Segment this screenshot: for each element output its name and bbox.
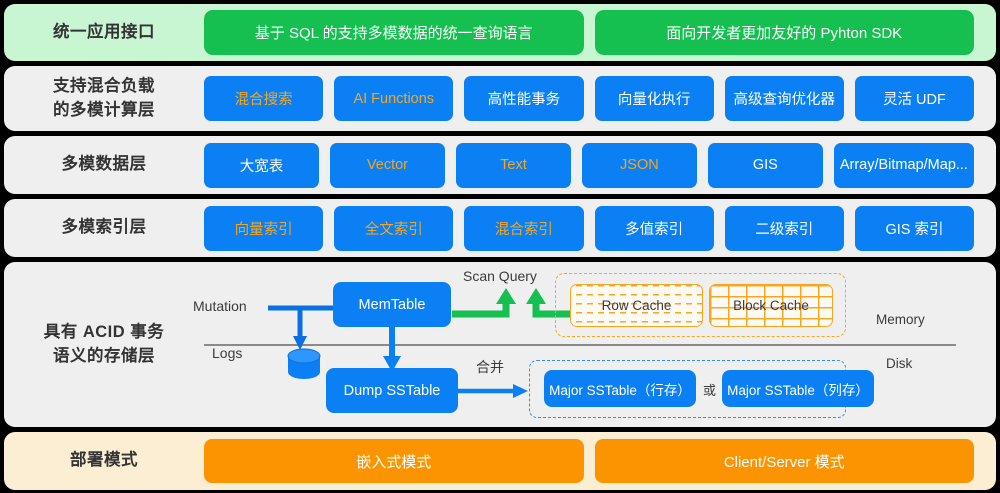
layer-row-index: 多模索引层 向量索引 全文索引 混合索引 多值索引 二级索引 GIS 索引: [4, 199, 996, 257]
chip-python-sdk[interactable]: 面向开发者更加友好的 Pyhton SDK: [595, 10, 975, 55]
layer-label-index: 多模索引层: [4, 216, 204, 239]
chip-query-optimizer[interactable]: 高级查询优化器: [725, 76, 844, 121]
chip-multivalue-index[interactable]: 多值索引: [595, 206, 714, 251]
layer-row-api: 统一应用接口 基于 SQL 的支持多模数据的统一查询语言 面向开发者更加友好的 …: [4, 4, 996, 61]
architecture-diagram: 统一应用接口 基于 SQL 的支持多模数据的统一查询语言 面向开发者更加友好的 …: [0, 0, 1000, 493]
label-scan-query: Scan Query: [463, 268, 537, 284]
chip-group-deploy: 嵌入式模式 Client/Server 模式: [204, 439, 996, 483]
chip-vector[interactable]: Vector: [330, 143, 445, 188]
layer-label-compute-line1: 支持混合负载: [4, 75, 204, 98]
chip-sql-query-language[interactable]: 基于 SQL 的支持多模数据的统一查询语言: [204, 10, 584, 55]
node-memtable[interactable]: MemTable: [333, 282, 451, 327]
chip-embedded-mode[interactable]: 嵌入式模式: [204, 439, 584, 483]
label-or: 或: [703, 380, 716, 399]
layer-label-compute-line2: 的多模计算层: [4, 99, 204, 122]
layer-body-compute: 混合搜索 AI Functions 高性能事务 向量化执行 高级查询优化器 灵活…: [204, 66, 996, 131]
chip-hybrid-search[interactable]: 混合搜索: [204, 76, 323, 121]
chip-hybrid-index[interactable]: 混合索引: [464, 206, 583, 251]
chip-high-perf-transaction[interactable]: 高性能事务: [464, 76, 583, 121]
chip-gis[interactable]: GIS: [708, 143, 823, 188]
chip-fulltext-index[interactable]: 全文索引: [334, 206, 453, 251]
layer-label-data: 多模数据层: [4, 153, 204, 176]
chip-group-api: 基于 SQL 的支持多模数据的统一查询语言 面向开发者更加友好的 Pyhton …: [204, 10, 996, 55]
layer-body-data: 大宽表 Vector Text JSON GIS Array/Bitmap/Ma…: [204, 136, 996, 194]
logs-database-icon: [282, 346, 326, 386]
memtable-to-dump-arrow: [376, 326, 408, 374]
chip-vectorized-execution[interactable]: 向量化执行: [595, 76, 714, 121]
label-disk: Disk: [886, 356, 912, 371]
layer-body-deploy: 嵌入式模式 Client/Server 模式: [204, 432, 996, 490]
layer-label-storage: 具有 ACID 事务 语义的存储层: [4, 321, 204, 368]
chip-flexible-udf[interactable]: 灵活 UDF: [855, 76, 974, 121]
layer-body-api: 基于 SQL 的支持多模数据的统一查询语言 面向开发者更加友好的 Pyhton …: [204, 4, 996, 61]
chip-wide-table[interactable]: 大宽表: [204, 143, 319, 188]
layer-label-deploy: 部署模式: [4, 449, 204, 472]
layer-row-data: 多模数据层 大宽表 Vector Text JSON GIS Array/Bit…: [4, 136, 996, 194]
node-block-cache-label: Block Cache: [731, 298, 811, 313]
chip-client-server-mode[interactable]: Client/Server 模式: [595, 439, 975, 483]
node-block-cache[interactable]: Block Cache: [709, 284, 833, 327]
layer-row-compute: 支持混合负载 的多模计算层 混合搜索 AI Functions 高性能事务 向量…: [4, 66, 996, 131]
merge-arrow: [456, 380, 534, 402]
layer-row-storage: 具有 ACID 事务 语义的存储层 Mutation Logs: [4, 262, 996, 427]
layer-label-storage-line1: 具有 ACID 事务: [4, 321, 204, 344]
label-memory: Memory: [876, 312, 925, 327]
node-major-sstable-col[interactable]: Major SSTable（列存）: [722, 370, 874, 407]
storage-diagram-canvas: Mutation Logs MemTabl: [204, 262, 996, 427]
chip-text[interactable]: Text: [456, 143, 571, 188]
chip-ai-functions[interactable]: AI Functions: [334, 76, 453, 121]
label-merge: 合并: [476, 357, 504, 377]
chip-array-bitmap-map[interactable]: Array/Bitmap/Map...: [834, 143, 974, 188]
chip-vector-index[interactable]: 向量索引: [204, 206, 323, 251]
node-dump-sstable[interactable]: Dump SSTable: [326, 368, 458, 413]
chip-gis-index[interactable]: GIS 索引: [855, 206, 974, 251]
layer-label-api: 统一应用接口: [4, 21, 204, 44]
layer-row-deploy: 部署模式 嵌入式模式 Client/Server 模式: [4, 432, 996, 490]
chip-group-data: 大宽表 Vector Text JSON GIS Array/Bitmap/Ma…: [204, 143, 996, 188]
node-row-cache[interactable]: Row Cache: [570, 284, 703, 327]
layer-label-storage-line2: 语义的存储层: [4, 345, 204, 368]
layer-label-compute: 支持混合负载 的多模计算层: [4, 75, 204, 122]
node-major-sstable-row[interactable]: Major SSTable（行存）: [544, 370, 696, 407]
chip-secondary-index[interactable]: 二级索引: [725, 206, 844, 251]
chip-group-compute: 混合搜索 AI Functions 高性能事务 向量化执行 高级查询优化器 灵活…: [204, 76, 996, 121]
layer-body-storage: Mutation Logs MemTabl: [204, 262, 996, 427]
label-logs: Logs: [212, 345, 242, 361]
layer-body-index: 向量索引 全文索引 混合索引 多值索引 二级索引 GIS 索引: [204, 199, 996, 257]
node-row-cache-label: Row Cache: [600, 298, 674, 313]
chip-json[interactable]: JSON: [582, 143, 697, 188]
chip-group-index: 向量索引 全文索引 混合索引 多值索引 二级索引 GIS 索引: [204, 206, 996, 251]
label-mutation: Mutation: [193, 298, 247, 314]
